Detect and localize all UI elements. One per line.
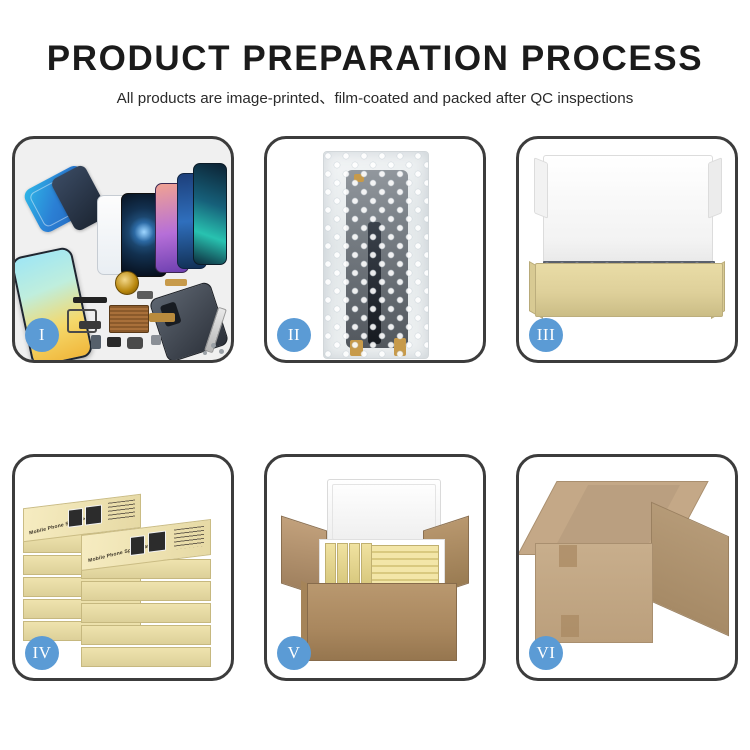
inner-yellow-box-2	[337, 543, 348, 585]
box-print-phone-r2	[148, 531, 166, 553]
process-step-panel-3: III	[516, 136, 738, 363]
carton-front-face	[307, 583, 457, 661]
page-title: PRODUCT PREPARATION PROCESS	[0, 38, 750, 80]
carton-tape-upper	[559, 545, 577, 567]
carton-side-face	[651, 502, 729, 637]
component-chip-6	[149, 313, 175, 322]
component-chip-1	[79, 321, 101, 329]
inner-yellow-box-3	[349, 543, 360, 585]
step-badge-6: VI	[529, 636, 563, 670]
stacked-box-r3	[81, 603, 211, 623]
yellow-box-tray	[535, 263, 723, 317]
logic-board-part	[109, 305, 149, 333]
page-subtitle: All products are image-printed、film-coat…	[0, 88, 750, 110]
process-step-panel-2: II	[264, 136, 486, 363]
step-badge-5: V	[277, 636, 311, 670]
component-chip-3	[107, 337, 121, 347]
speaker-coil-part	[115, 271, 139, 295]
process-step-panel-1: I	[12, 136, 234, 363]
stacked-box-r4	[81, 625, 211, 645]
component-chip-5	[151, 335, 161, 345]
stacked-box-r5	[81, 647, 211, 667]
process-step-panel-6: VI	[516, 454, 738, 681]
screw-1	[211, 343, 216, 348]
box-print-text-lines-r	[174, 526, 204, 550]
box-print-text-lines-l	[108, 499, 135, 521]
white-foam-lid	[543, 155, 713, 277]
process-step-panel-5: V	[264, 454, 486, 681]
component-chip-8	[137, 291, 153, 299]
carton-tape-lower	[561, 615, 579, 637]
box-print-phone-l2	[85, 505, 102, 526]
phone-teal-gradient	[193, 163, 227, 265]
inner-yellow-box-group	[371, 545, 439, 585]
screw-3	[203, 351, 207, 355]
box-print-phone-r1	[130, 535, 145, 556]
screw-2	[219, 349, 224, 354]
component-chip-2	[91, 335, 101, 349]
flex-strip-part	[73, 297, 107, 303]
box-print-phone-l1	[68, 508, 83, 528]
inner-yellow-box-1	[325, 543, 336, 585]
step-badge-3: III	[529, 318, 563, 352]
step-badge-4: IV	[25, 636, 59, 670]
bubble-wrap-bag	[323, 151, 429, 359]
component-chip-4	[127, 337, 143, 349]
process-steps-grid: I II III	[12, 136, 738, 681]
step-badge-2: II	[277, 318, 311, 352]
carton-front-face	[535, 543, 653, 643]
step-badge-1: I	[25, 318, 59, 352]
process-step-panel-4: Mobile Phone Spare Parts Mobile Phone Sp…	[12, 454, 234, 681]
component-chip-7	[165, 279, 187, 286]
stacked-box-r2	[81, 581, 211, 601]
bubble-texture	[324, 152, 428, 358]
page-header: PRODUCT PREPARATION PROCESS All products…	[0, 0, 750, 110]
